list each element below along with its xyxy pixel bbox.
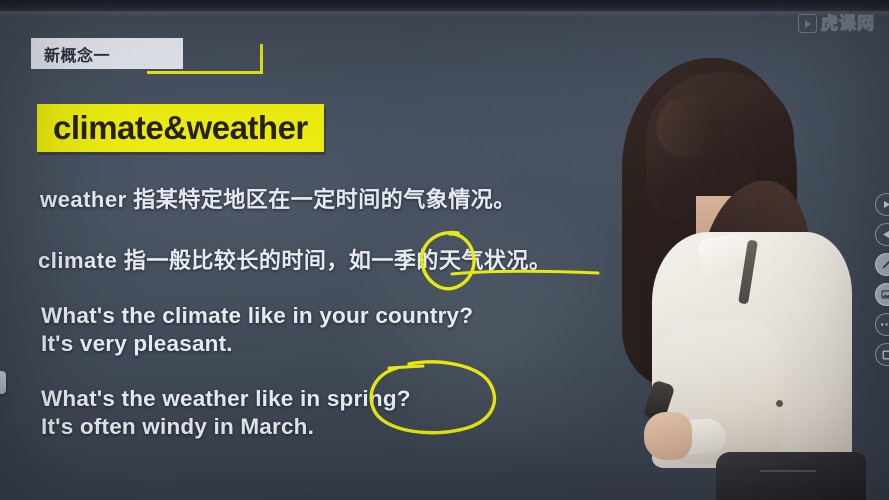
slide-content: 新概念一 climate&weather weather 指某特定地区在一定时间… — [0, 0, 620, 500]
slide-line-cn-climate: climate 指一般比较长的时间，如一季的天气状况。 — [38, 243, 551, 275]
slide-line-en-a2: It's often windy in March. — [41, 414, 314, 440]
presenter-shirt-button — [776, 400, 783, 407]
control-rail — [875, 193, 889, 366]
slide-line-en-q2: What's the weather like in spring? — [41, 386, 411, 412]
slide-line-cn-weather: weather 指某特定地区在一定时间的气象情况。 — [40, 182, 516, 214]
watermark-brand: 虎课网 — [821, 14, 875, 33]
video-frame: 新概念一 climate&weather weather 指某特定地区在一定时间… — [0, 0, 889, 500]
panel-handle[interactable] — [0, 371, 6, 394]
image-icon[interactable] — [875, 283, 889, 306]
page-title: climate&weather — [53, 109, 308, 147]
play-badge-icon — [798, 14, 817, 33]
badge-label: 新概念一 — [44, 42, 110, 66]
more-dots-icon[interactable] — [875, 313, 889, 336]
badge: 新概念一 — [31, 38, 246, 76]
presenter-hand — [644, 412, 692, 460]
pencil-icon[interactable] — [875, 253, 889, 276]
play-icon[interactable] — [875, 193, 889, 216]
slide-title-band: climate&weather — [37, 104, 324, 152]
frame-icon[interactable] — [875, 343, 889, 366]
presenter-jeans-seam — [760, 470, 816, 472]
slide-line-en-q1: What's the climate like in your country? — [41, 303, 473, 329]
presenter-jeans — [716, 452, 866, 500]
screen-bezel-sheen — [0, 11, 889, 16]
slide-line-en-a1: It's very pleasant. — [41, 331, 233, 357]
watermark: 虎课网 — [798, 14, 875, 33]
back-arrow-icon[interactable] — [875, 223, 889, 246]
badge-box: 新概念一 — [31, 38, 183, 69]
